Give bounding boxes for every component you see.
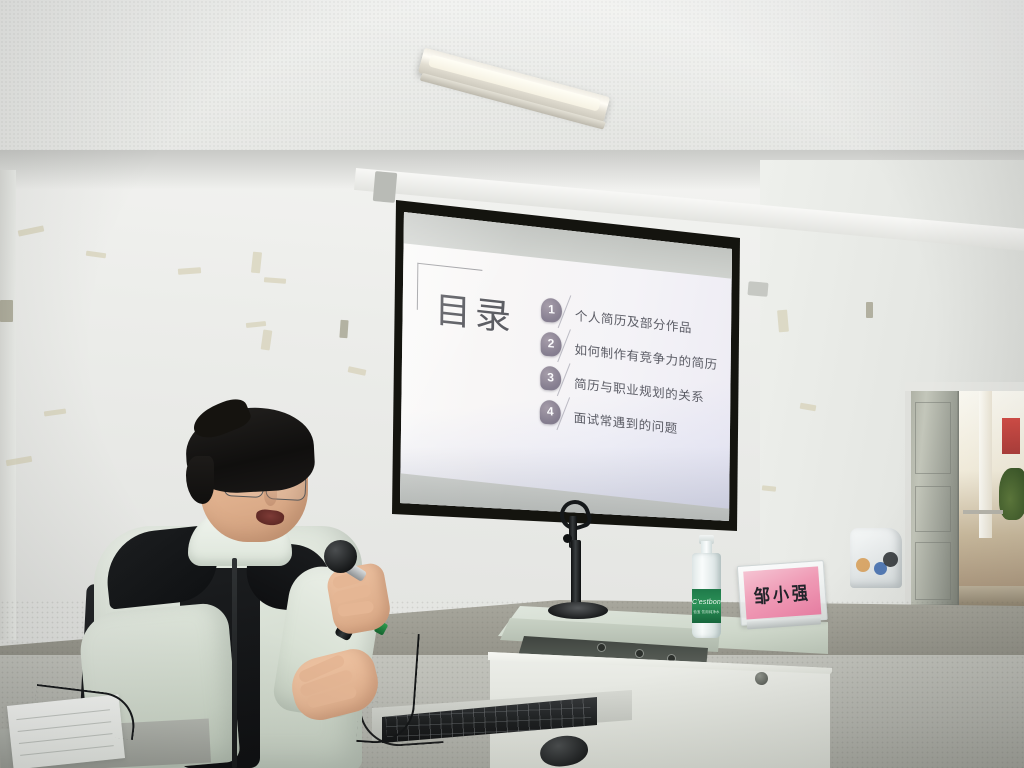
wall-scuff: [0, 300, 13, 322]
microphone-head-icon: [324, 540, 357, 573]
lectern-lock-knob[interactable]: [755, 672, 768, 685]
corridor-rail: [963, 510, 1003, 514]
toc-item-label: 面试常遇到的问题: [574, 407, 678, 437]
door-frame: [905, 382, 911, 610]
water-bottle[interactable]: C'estbon 怡宝 饮用纯净水: [690, 535, 723, 638]
toc-item-label: 如何制作有竞争力的简历: [574, 339, 717, 373]
finger: [337, 600, 374, 617]
toc-number: 3: [547, 371, 554, 384]
toc-item-label: 简历与职业规划的关系: [574, 373, 704, 406]
slide-body: 目录 1 个人简历及部分作品 2: [389, 242, 744, 510]
toc-number-pin-icon: 2: [540, 332, 562, 358]
name-plate-text: 邹小强: [753, 577, 812, 609]
door-header: [905, 382, 1024, 391]
slide-title: 目录: [435, 281, 516, 342]
bottle-label: C'estbon 怡宝 饮用纯净水: [692, 589, 721, 623]
doorway: [905, 382, 1024, 610]
toc-number: 4: [547, 405, 554, 418]
bottle-sub-label: 怡宝 饮用纯净水: [693, 609, 719, 614]
hair-sideburn: [186, 456, 214, 504]
classroom-photo-scene: 目录 1 个人简历及部分作品 2: [0, 0, 1024, 768]
wall-tape-mark: [777, 310, 789, 333]
mic-stand-pole: [571, 540, 581, 606]
door-leaf[interactable]: [907, 386, 959, 606]
plastic-bag: [850, 528, 902, 588]
toc-number-pin-icon: 3: [540, 366, 562, 392]
bottle-brand: C'estbon: [692, 599, 721, 606]
jacket-zipper: [232, 558, 237, 768]
bag-contents: [883, 552, 898, 567]
presentation-slide: 目录 1 个人简历及部分作品 2: [388, 208, 744, 538]
corridor-pillar: [979, 388, 992, 538]
left-wall-edge: [0, 170, 16, 640]
mic-stand-base: [548, 602, 608, 619]
wall-scuff: [339, 320, 348, 339]
screen-mount-right: [747, 281, 768, 297]
toc-number: 1: [548, 303, 555, 316]
red-banner: [1002, 418, 1020, 454]
toc-number: 2: [548, 337, 555, 350]
slide-toc-list: 1 个人简历及部分作品 2 如何制作有竞争力的简历: [540, 296, 742, 454]
toc-number-pin-icon: 4: [539, 400, 561, 426]
toc-item-label: 个人简历及部分作品: [575, 305, 692, 337]
toc-number-pin-icon: 1: [541, 298, 563, 324]
name-plate: 邹小强: [737, 560, 826, 632]
wall-scuff: [866, 302, 873, 318]
lectern-port: [598, 644, 605, 651]
lectern-port: [636, 650, 643, 657]
bag-contents: [856, 558, 870, 572]
name-plate-card: 邹小强: [743, 566, 821, 619]
